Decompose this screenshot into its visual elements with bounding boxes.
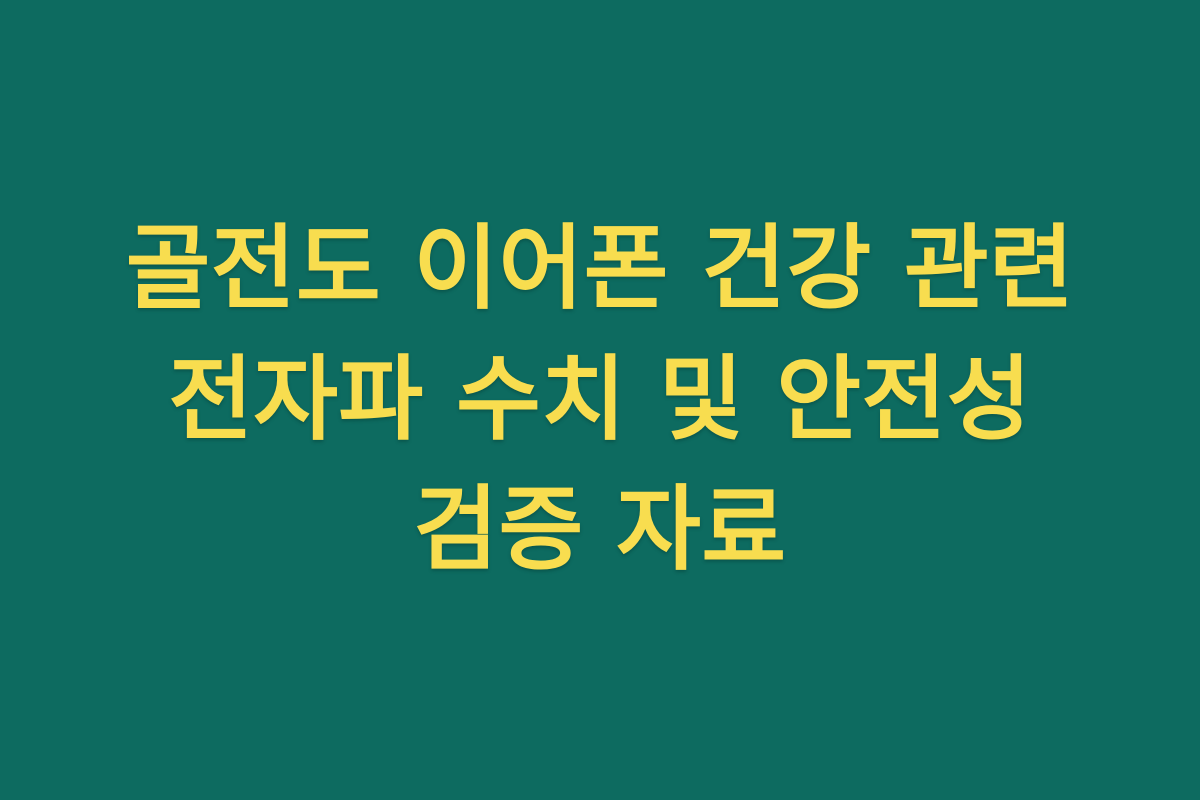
banner-background: 골전도 이어폰 건강 관련 전자파 수치 및 안전성 검증 자료	[0, 0, 1200, 800]
page-title: 골전도 이어폰 건강 관련 전자파 수치 및 안전성 검증 자료	[126, 204, 1074, 596]
headline-container: 골전도 이어폰 건강 관련 전자파 수치 및 안전성 검증 자료	[70, 204, 1130, 596]
headline-line-1: 골전도 이어폰 건강 관련	[126, 204, 1074, 335]
headline-line-2: 전자파 수치 및 안전성	[126, 335, 1074, 466]
headline-line-3: 검증 자료	[126, 465, 1074, 596]
